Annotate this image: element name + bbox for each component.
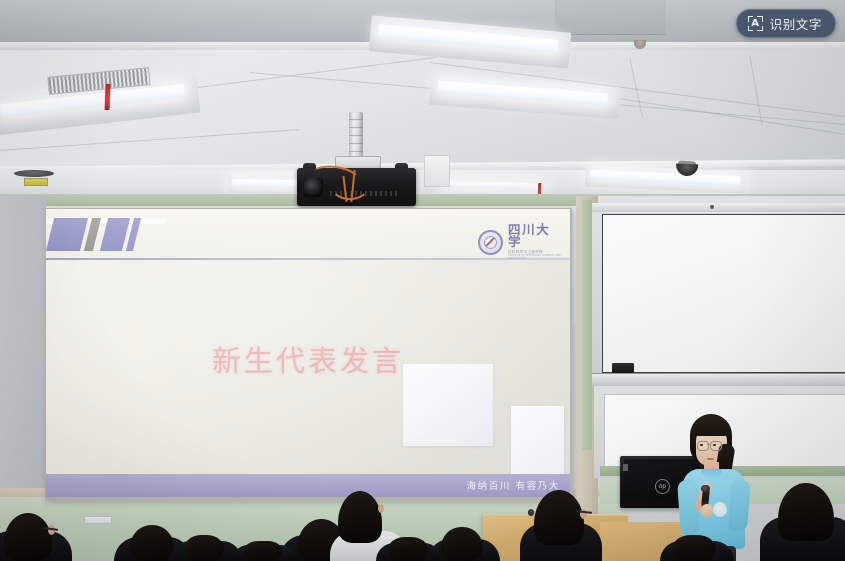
speaker-mouth [707, 458, 714, 460]
audience-head [184, 535, 224, 561]
university-logo-text: 四川大学 材料科学与工程学院 COLLEGE OF MATERIALS SCIE… [508, 224, 564, 260]
wall-plate [14, 170, 54, 177]
slide-footer-band: 海纳百川 有容乃大 [46, 474, 570, 497]
presentation-slide: 四川大学 材料科学与工程学院 COLLEGE OF MATERIALS SCIE… [46, 209, 570, 497]
slide-header-divider [46, 258, 570, 260]
ceiling-duct [555, 0, 666, 35]
recognize-text-button[interactable]: A 识别文字 [736, 9, 836, 38]
audience-head [388, 537, 428, 561]
projector-mount-pole-rings [349, 112, 363, 159]
whiteboard-eraser [612, 363, 634, 373]
audience-head [672, 535, 716, 561]
wall-pillar-green-trim [582, 200, 592, 450]
audience-ear [48, 525, 55, 535]
speaker-right-sleeve [728, 479, 751, 532]
attached-paper-sheet [403, 364, 493, 446]
speaker-eye [713, 444, 716, 446]
university-name: 四川大学 [508, 224, 564, 249]
recognize-text-button-label: 识别文字 [770, 14, 822, 33]
university-logo: 四川大学 材料科学与工程学院 COLLEGE OF MATERIALS SCIE… [478, 227, 564, 257]
red-ribbon-tag [105, 84, 111, 110]
podium-microphone [528, 509, 534, 516]
audience-head [130, 525, 174, 561]
whiteboard-bottom-rail [592, 373, 845, 386]
wall-label-tag [24, 178, 48, 186]
speaker-eye [700, 444, 703, 446]
screenshot-root: 四川大学 材料科学与工程学院 COLLEGE OF MATERIALS SCIE… [0, 0, 845, 561]
speaker-hair-fringe [693, 423, 729, 436]
hp-monitor-power-badge [623, 464, 628, 471]
whiteboard-top-rail [592, 203, 845, 212]
audience-head [441, 527, 483, 561]
left-wall-column [0, 196, 46, 496]
glasses-icon [710, 441, 722, 451]
wall-access-plate [424, 155, 450, 187]
text-recognition-icon: A [748, 16, 763, 31]
audience-head [244, 541, 282, 561]
university-college-name-en: COLLEGE OF MATERIALS SCIENCE AND ENGINEE… [508, 255, 564, 260]
microphone-head [701, 485, 710, 492]
university-emblem-icon [478, 230, 503, 255]
speaker-hand [701, 504, 713, 517]
audience-ear [378, 504, 384, 513]
whiteboard [602, 214, 845, 373]
glasses-icon [697, 441, 709, 451]
whiteboard-fastener [710, 205, 714, 209]
wall-small-sign [84, 516, 112, 524]
glasses-bridge [707, 444, 711, 445]
slide-motto: 海纳百川 有容乃大 [467, 478, 560, 492]
tshirt-print-graphic [713, 502, 727, 517]
